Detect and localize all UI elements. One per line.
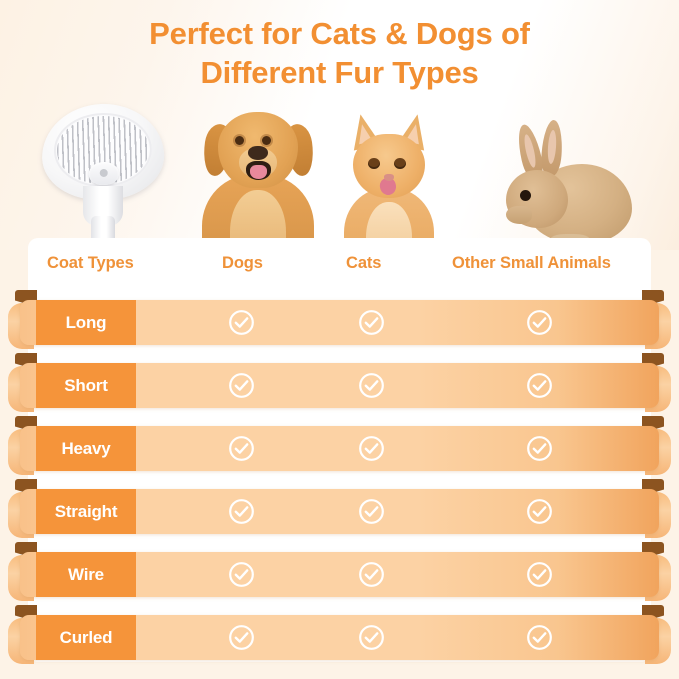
check-icon-other-small-animals <box>517 489 562 534</box>
page-title: Perfect for Cats & Dogs of Different Fur… <box>0 14 679 92</box>
page-title-line-1: Perfect for Cats & Dogs of <box>0 14 679 53</box>
dog-eye-left-shape <box>235 136 244 145</box>
check-icon-other-small-animals <box>517 615 562 660</box>
table-row: Wire <box>0 542 679 605</box>
check-icon-cats <box>349 615 394 660</box>
rabbit-eye-shape <box>520 190 531 201</box>
cat-nose-shape <box>384 174 394 181</box>
hero-banner: Perfect for Cats & Dogs of Different Fur… <box>0 0 679 250</box>
rabbit-nose-shape <box>506 206 532 224</box>
coat-type-label: Straight <box>36 489 136 534</box>
brush-button-icon <box>88 161 119 185</box>
check-icon-dogs <box>219 489 264 534</box>
check-icon-other-small-animals <box>517 552 562 597</box>
coat-type-label: Long <box>36 300 136 345</box>
check-icon-dogs <box>219 300 264 345</box>
check-icon-cats <box>349 552 394 597</box>
golden-retriever-image <box>196 98 320 248</box>
check-icon-other-small-animals <box>517 426 562 471</box>
dog-nose-shape <box>248 146 268 160</box>
column-header-other-small-animals: Other Small Animals <box>452 254 611 273</box>
cat-eye-right-shape <box>394 158 406 169</box>
table-row: Short <box>0 353 679 416</box>
check-icon-other-small-animals <box>517 363 562 408</box>
cat-eye-left-shape <box>368 158 380 169</box>
dog-tongue-shape <box>250 165 267 179</box>
coat-type-label: Heavy <box>36 426 136 471</box>
check-icon-cats <box>349 426 394 471</box>
coat-type-label: Curled <box>36 615 136 660</box>
coat-type-label: Short <box>36 363 136 408</box>
table-header-row: Coat Types Dogs Cats Other Small Animals <box>28 238 651 290</box>
column-header-coat-types: Coat Types <box>47 254 134 273</box>
check-icon-dogs <box>219 363 264 408</box>
grooming-brush-image <box>28 98 180 248</box>
table-row: Curled <box>0 605 679 668</box>
coat-type-label: Wire <box>36 552 136 597</box>
table-row: Heavy <box>0 416 679 479</box>
check-icon-cats <box>349 489 394 534</box>
rabbit-image <box>498 118 638 248</box>
page-title-line-2: Different Fur Types <box>0 53 679 92</box>
table-row: Long <box>0 290 679 353</box>
check-icon-dogs <box>219 615 264 660</box>
dog-eye-right-shape <box>262 136 271 145</box>
check-icon-cats <box>349 300 394 345</box>
column-header-dogs: Dogs <box>222 254 263 273</box>
column-header-cats: Cats <box>346 254 381 273</box>
check-icon-other-small-animals <box>517 300 562 345</box>
table-row: Straight <box>0 479 679 542</box>
photo-strip <box>0 96 679 248</box>
orange-cat-image <box>334 108 444 248</box>
check-icon-dogs <box>219 552 264 597</box>
check-icon-dogs <box>219 426 264 471</box>
check-icon-cats <box>349 363 394 408</box>
